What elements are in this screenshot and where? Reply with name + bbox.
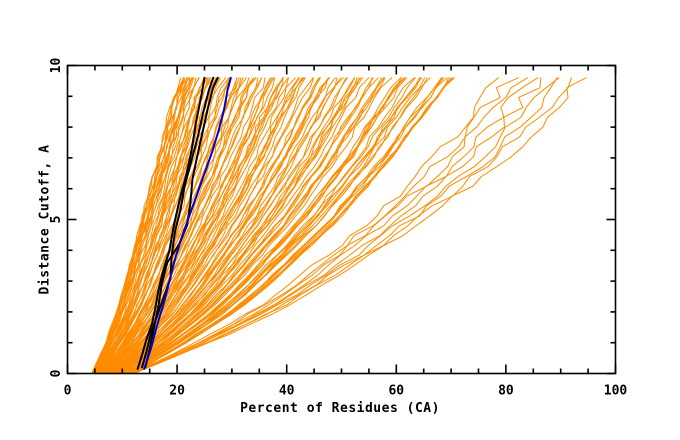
x-tick-label: 20 [169,384,185,399]
plot-canvas: 0204060801000510 [0,0,680,440]
y-tick-label: 0 [49,369,64,377]
plot-clip-mask [616,0,680,440]
x-tick-label: 80 [498,384,514,399]
chart-page: T0991-D1 0204060801000510 Percent of Res… [0,0,680,440]
x-tick-label: 100 [604,384,628,399]
y-axis-label: Distance Cutoff, A [38,90,53,350]
x-tick-label: 0 [64,384,72,399]
x-axis-label: Percent of Residues (CA) [0,401,680,416]
x-tick-label: 60 [388,384,404,399]
x-tick-label: 40 [279,384,295,399]
plot-clip-mask [0,0,680,65]
y-tick-label: 10 [49,58,64,74]
